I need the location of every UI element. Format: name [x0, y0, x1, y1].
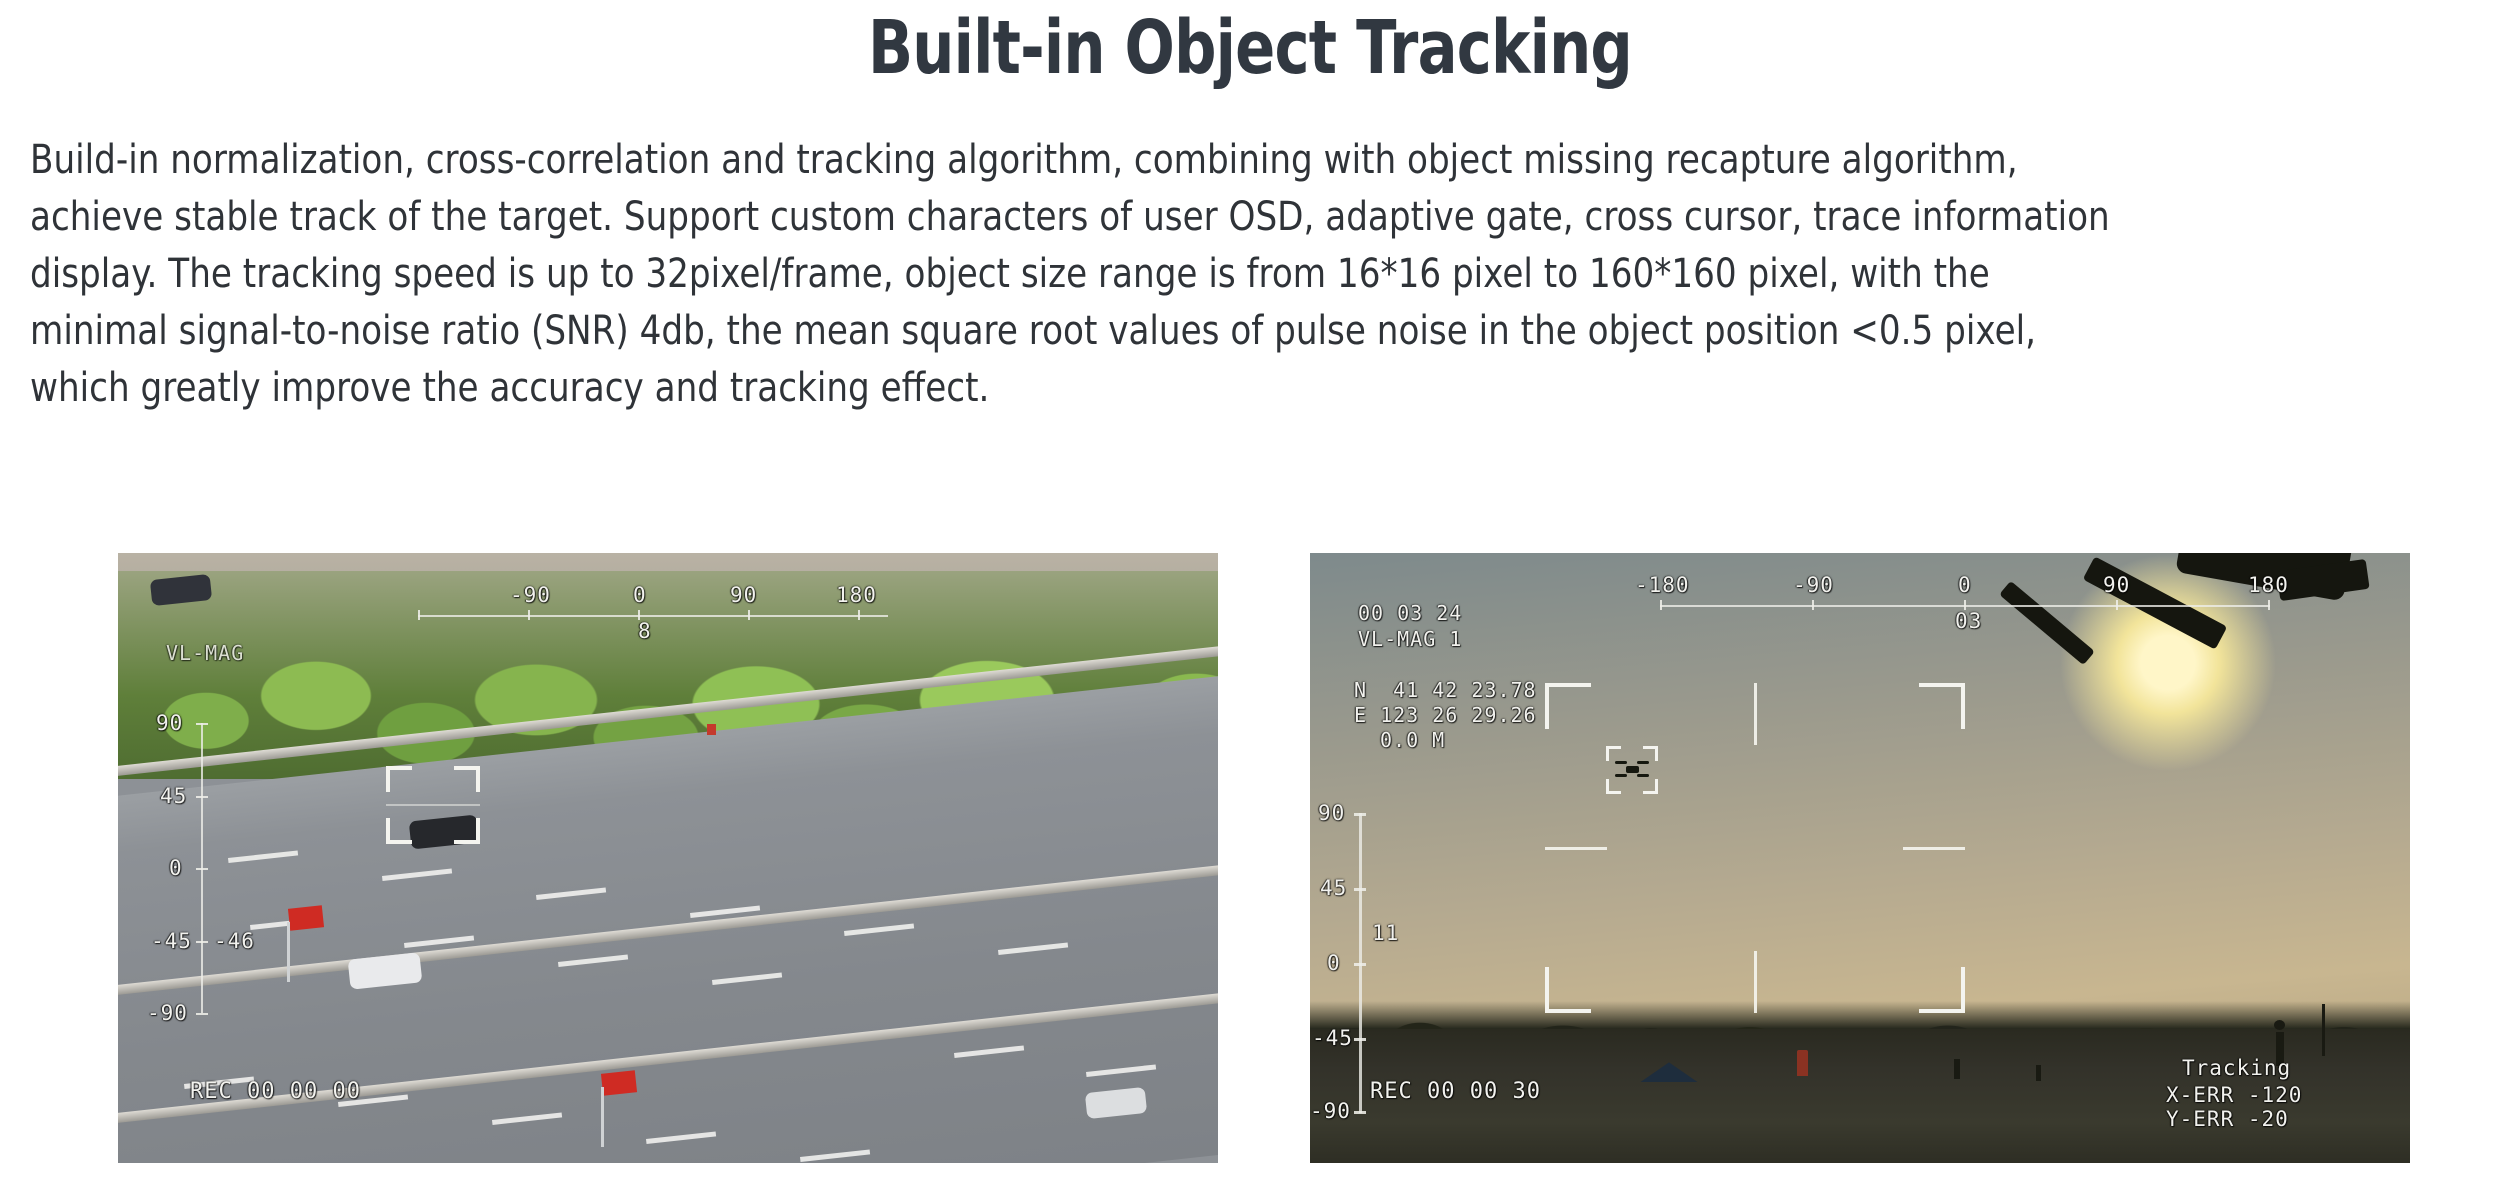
page-title: Built-in Object Tracking [250, 6, 2250, 90]
red-marker [1797, 1050, 1808, 1076]
person-silhouette [2276, 1032, 2284, 1066]
drone-scene-image [1310, 553, 2410, 1163]
highway-tracking-preview[interactable]: -90 0 90 180 8 VL-MAG 90 45 0 -45 -90 -4… [118, 553, 1218, 1163]
red-marker-small [707, 724, 716, 735]
highway-scene-image [118, 553, 1218, 1163]
red-flag-2 [601, 1070, 637, 1095]
drone-tracking-preview[interactable]: 00 03 24 VL-MAG 1 N 41 42 23.78 E 123 26… [1310, 553, 2410, 1163]
preview-panels: -90 0 90 180 8 VL-MAG 90 45 0 -45 -90 -4… [0, 553, 2500, 1173]
description-paragraph: Build-in normalization, cross-correlatio… [30, 132, 2133, 417]
red-flag-1 [287, 905, 323, 930]
page-root: Built-in Object Tracking Build-in normal… [0, 0, 2500, 1201]
